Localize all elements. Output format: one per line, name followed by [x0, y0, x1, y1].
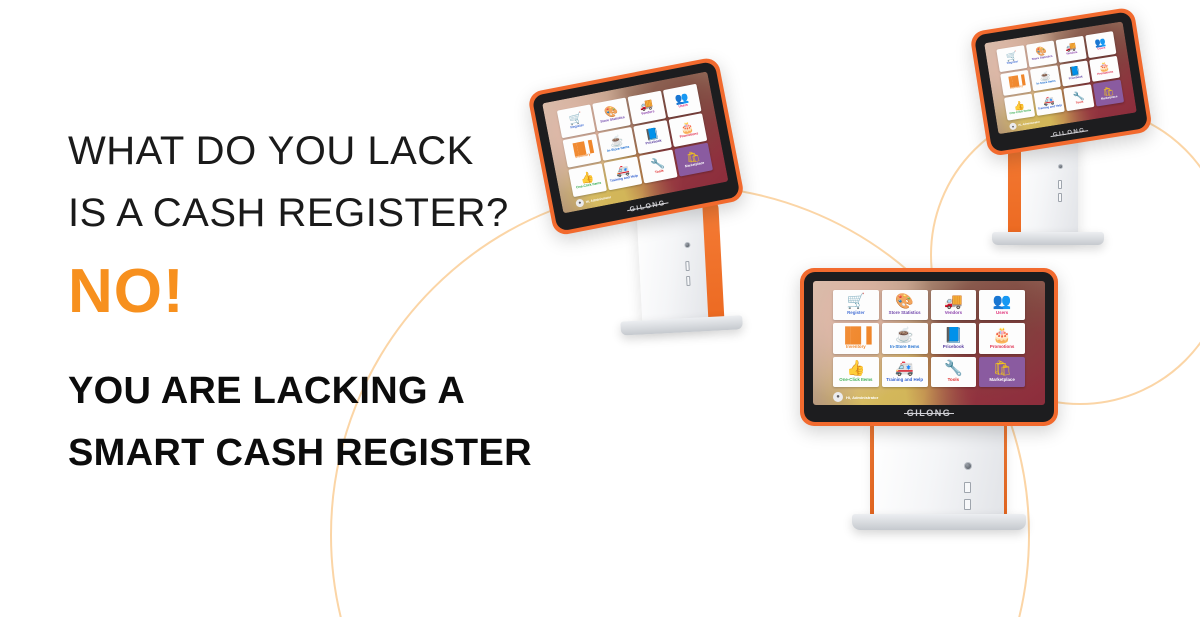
- home-tile-tools[interactable]: 🔧Tools: [931, 357, 977, 387]
- home-tile-one-click-items[interactable]: 👍One-Click Items: [1004, 94, 1035, 121]
- home-tile-marketplace[interactable]: 🛍Marketplace: [674, 143, 713, 177]
- stand-base: [620, 315, 743, 335]
- home-tile-tools[interactable]: 🔧Tools: [1063, 84, 1094, 111]
- status-user-label: Hi, Administrator: [846, 395, 878, 400]
- home-tile-in-store-items[interactable]: ☕In-Store Items: [882, 323, 928, 353]
- usb-port-icon: [964, 482, 971, 493]
- home-tile-label: Register: [569, 123, 585, 130]
- home-tile-register[interactable]: 🛒Register: [557, 104, 596, 138]
- power-button-icon[interactable]: [964, 462, 972, 470]
- brand-logo: GILONG: [804, 408, 1054, 418]
- status-user-label: Hi, Administrator: [1018, 121, 1040, 127]
- headline-emphasis: NO!: [68, 252, 588, 332]
- wrench-icon: 🔧: [944, 361, 963, 376]
- pos-screen-frame: 🛒Register🎨Store Statistics🚚Vendors👥Users…: [969, 7, 1153, 157]
- home-screen-grid: 🛒Register🎨Store Statistics🚚Vendors👥Users…: [557, 84, 713, 197]
- home-tile-inventory[interactable]: ▐█▐Inventory: [833, 323, 879, 353]
- home-tile-label: Vendors: [1065, 51, 1079, 56]
- ambulance-icon: 🚑: [895, 361, 914, 376]
- home-tile-store-statistics[interactable]: 🎨Store Statistics: [1026, 40, 1057, 67]
- user-avatar-icon: ●: [1009, 122, 1017, 130]
- home-tile-label: Marketplace: [988, 378, 1015, 383]
- user-avatar-icon: ●: [833, 392, 843, 402]
- home-tile-training-and-help[interactable]: 🚑Training and Help: [604, 156, 643, 190]
- pos-bezel: 🛒Register🎨Store Statistics🚚Vendors👥Users…: [804, 272, 1054, 422]
- home-tile-training-and-help[interactable]: 🚑Training and Help: [882, 357, 928, 387]
- home-tile-register[interactable]: 🛒Register: [833, 290, 879, 320]
- home-tile-label: In-Store Items: [606, 145, 631, 153]
- home-tile-label: Inventory: [1009, 85, 1024, 90]
- home-tile-label: One-Click Items: [1008, 108, 1032, 115]
- banner-canvas: WHAT DO YOU LACK IS A CASH REGISTER? NO!…: [0, 0, 1200, 617]
- home-tile-vendors[interactable]: 🚚Vendors: [931, 290, 977, 320]
- home-tile-label: Register: [1006, 60, 1020, 65]
- home-tile-label: Vendors: [640, 110, 656, 117]
- home-tile-label: Register: [846, 311, 866, 316]
- user-avatar-icon: ●: [575, 198, 584, 207]
- home-tile-marketplace[interactable]: 🛍Marketplace: [979, 357, 1025, 387]
- stand-base: [992, 232, 1104, 245]
- home-tile-label: In-Store Items: [1035, 79, 1057, 85]
- home-tile-label: Vendors: [944, 311, 963, 316]
- home-tile-inventory[interactable]: ▐█▐Inventory: [1000, 69, 1031, 96]
- home-tile-label: Tools: [654, 169, 665, 175]
- home-tile-label: Users: [677, 103, 689, 109]
- usb-port-icon: [1058, 193, 1062, 202]
- home-tile-promotions[interactable]: 🎂Promotions: [979, 323, 1025, 353]
- home-tile-users[interactable]: 👥Users: [663, 84, 702, 118]
- home-tile-label: Users: [995, 311, 1009, 316]
- usb-port-icon: [964, 499, 971, 510]
- home-tile-training-and-help[interactable]: 🚑Training and Help: [1034, 89, 1065, 116]
- pos-bezel: 🛒Register🎨Store Statistics🚚Vendors👥Users…: [532, 61, 741, 232]
- headline-line-1: WHAT DO YOU LACK: [68, 120, 588, 182]
- pos-bezel: 🛒Register🎨Store Statistics🚚Vendors👥Users…: [974, 11, 1149, 152]
- status-bar: ● Hi, Administrator: [833, 392, 878, 402]
- home-tile-label: Tools: [1075, 100, 1085, 105]
- home-tile-label: One-Click Items: [838, 378, 873, 383]
- status-user-label: Hi, Administrator: [585, 195, 611, 204]
- cake-icon: 🎂: [993, 328, 1012, 343]
- usb-port-icon: [685, 261, 690, 271]
- statistics-icon: 🎨: [895, 294, 914, 309]
- home-tile-label: Promotions: [1096, 70, 1114, 76]
- home-screen-grid: 🛒Register🎨Store Statistics🚚Vendors👥Users…: [996, 31, 1124, 121]
- home-tile-label: Promotions: [989, 345, 1015, 350]
- home-tile-promotions[interactable]: 🎂Promotions: [669, 113, 708, 147]
- status-bar: ● Hi, Administrator: [1009, 119, 1040, 131]
- home-tile-register[interactable]: 🛒Register: [996, 45, 1027, 72]
- home-tile-label: Users: [1096, 47, 1106, 52]
- home-tile-label: Pricebook: [1068, 75, 1084, 81]
- headline-line-3: YOU ARE LACKING A: [68, 360, 588, 422]
- home-tile-marketplace[interactable]: 🛍Marketplace: [1093, 80, 1124, 107]
- home-tile-label: Inventory: [574, 153, 592, 160]
- home-tile-vendors[interactable]: 🚚Vendors: [628, 91, 667, 125]
- pos-terminal-top-right: 🛒Register🎨Store Statistics🚚Vendors👥Users…: [969, 7, 1153, 157]
- home-tile-promotions[interactable]: 🎂Promotions: [1089, 55, 1120, 82]
- home-tile-users[interactable]: 👥Users: [1085, 31, 1116, 58]
- delivery-truck-icon: 🚚: [944, 294, 963, 309]
- home-tile-label: Tools: [947, 378, 960, 383]
- usb-port-icon: [1058, 180, 1062, 189]
- headline-bold-block: YOU ARE LACKING A SMART CASH REGISTER: [68, 360, 588, 484]
- pos-display[interactable]: 🛒Register🎨Store Statistics🚚Vendors👥Users…: [984, 21, 1137, 134]
- home-tile-label: Marketplace: [1100, 95, 1119, 101]
- shopping-cart-icon: 🛒: [847, 294, 866, 309]
- coffee-cup-icon: ☕: [895, 328, 914, 343]
- home-tile-in-store-items[interactable]: ☕In-Store Items: [1030, 65, 1061, 92]
- shopping-bag-icon: 🛍: [993, 361, 1012, 376]
- usb-port-icon: [686, 276, 691, 286]
- home-tile-label: Store Statistics: [1031, 55, 1054, 62]
- book-icon: 📘: [944, 328, 963, 343]
- stand-base: [852, 514, 1026, 530]
- stand-column: [874, 424, 1004, 516]
- barcode-icon: ▐█▐: [840, 328, 872, 343]
- power-button-icon[interactable]: [1058, 164, 1063, 169]
- home-tile-vendors[interactable]: 🚚Vendors: [1056, 36, 1087, 63]
- users-group-icon: 👥: [993, 294, 1012, 309]
- home-tile-pricebook[interactable]: 📘Pricebook: [1059, 60, 1090, 87]
- headline-line-4: SMART CASH REGISTER: [68, 422, 588, 484]
- home-tile-label: Training and Help: [1037, 103, 1063, 110]
- home-tile-users[interactable]: 👥Users: [979, 290, 1025, 320]
- headline-line-2: IS A CASH REGISTER?: [68, 182, 588, 244]
- home-tile-label: In-Store Items: [889, 345, 920, 350]
- home-screen-grid: 🛒Register🎨Store Statistics🚚Vendors👥Users…: [833, 290, 1025, 387]
- pos-display[interactable]: 🛒Register🎨Store Statistics🚚Vendors👥Users…: [813, 281, 1045, 405]
- home-tile-label: Pricebook: [942, 345, 965, 350]
- home-tile-label: Training and Help: [885, 378, 924, 383]
- pos-terminal-bottom-center: 🛒Register🎨Store Statistics🚚Vendors👥Users…: [800, 268, 1058, 426]
- home-tile-label: Store Statistics: [888, 311, 922, 316]
- home-tile-store-statistics[interactable]: 🎨Store Statistics: [882, 290, 928, 320]
- home-tile-label: One-Click Items: [575, 181, 603, 190]
- home-tile-label: Training and Help: [609, 174, 640, 183]
- home-tile-pricebook[interactable]: 📘Pricebook: [931, 323, 977, 353]
- home-tile-one-click-items[interactable]: 👍One-Click Items: [568, 163, 607, 197]
- home-tile-label: Store Statistics: [599, 115, 626, 124]
- headline-copy: WHAT DO YOU LACK IS A CASH REGISTER? NO!…: [68, 120, 588, 484]
- home-tile-pricebook[interactable]: 📘Pricebook: [633, 120, 672, 154]
- home-tile-in-store-items[interactable]: ☕In-Store Items: [598, 127, 637, 161]
- thumbs-up-icon: 👍: [847, 361, 866, 376]
- home-tile-one-click-items[interactable]: 👍One-Click Items: [833, 357, 879, 387]
- pos-stand-bottom-center: [852, 424, 1042, 554]
- home-tile-inventory[interactable]: ▐█▐Inventory: [563, 134, 602, 168]
- home-tile-store-statistics[interactable]: 🎨Store Statistics: [592, 97, 631, 131]
- home-tile-tools[interactable]: 🔧Tools: [639, 149, 678, 183]
- home-tile-label: Inventory: [845, 345, 867, 350]
- pos-screen-frame: 🛒Register🎨Store Statistics🚚Vendors👥Users…: [800, 268, 1058, 426]
